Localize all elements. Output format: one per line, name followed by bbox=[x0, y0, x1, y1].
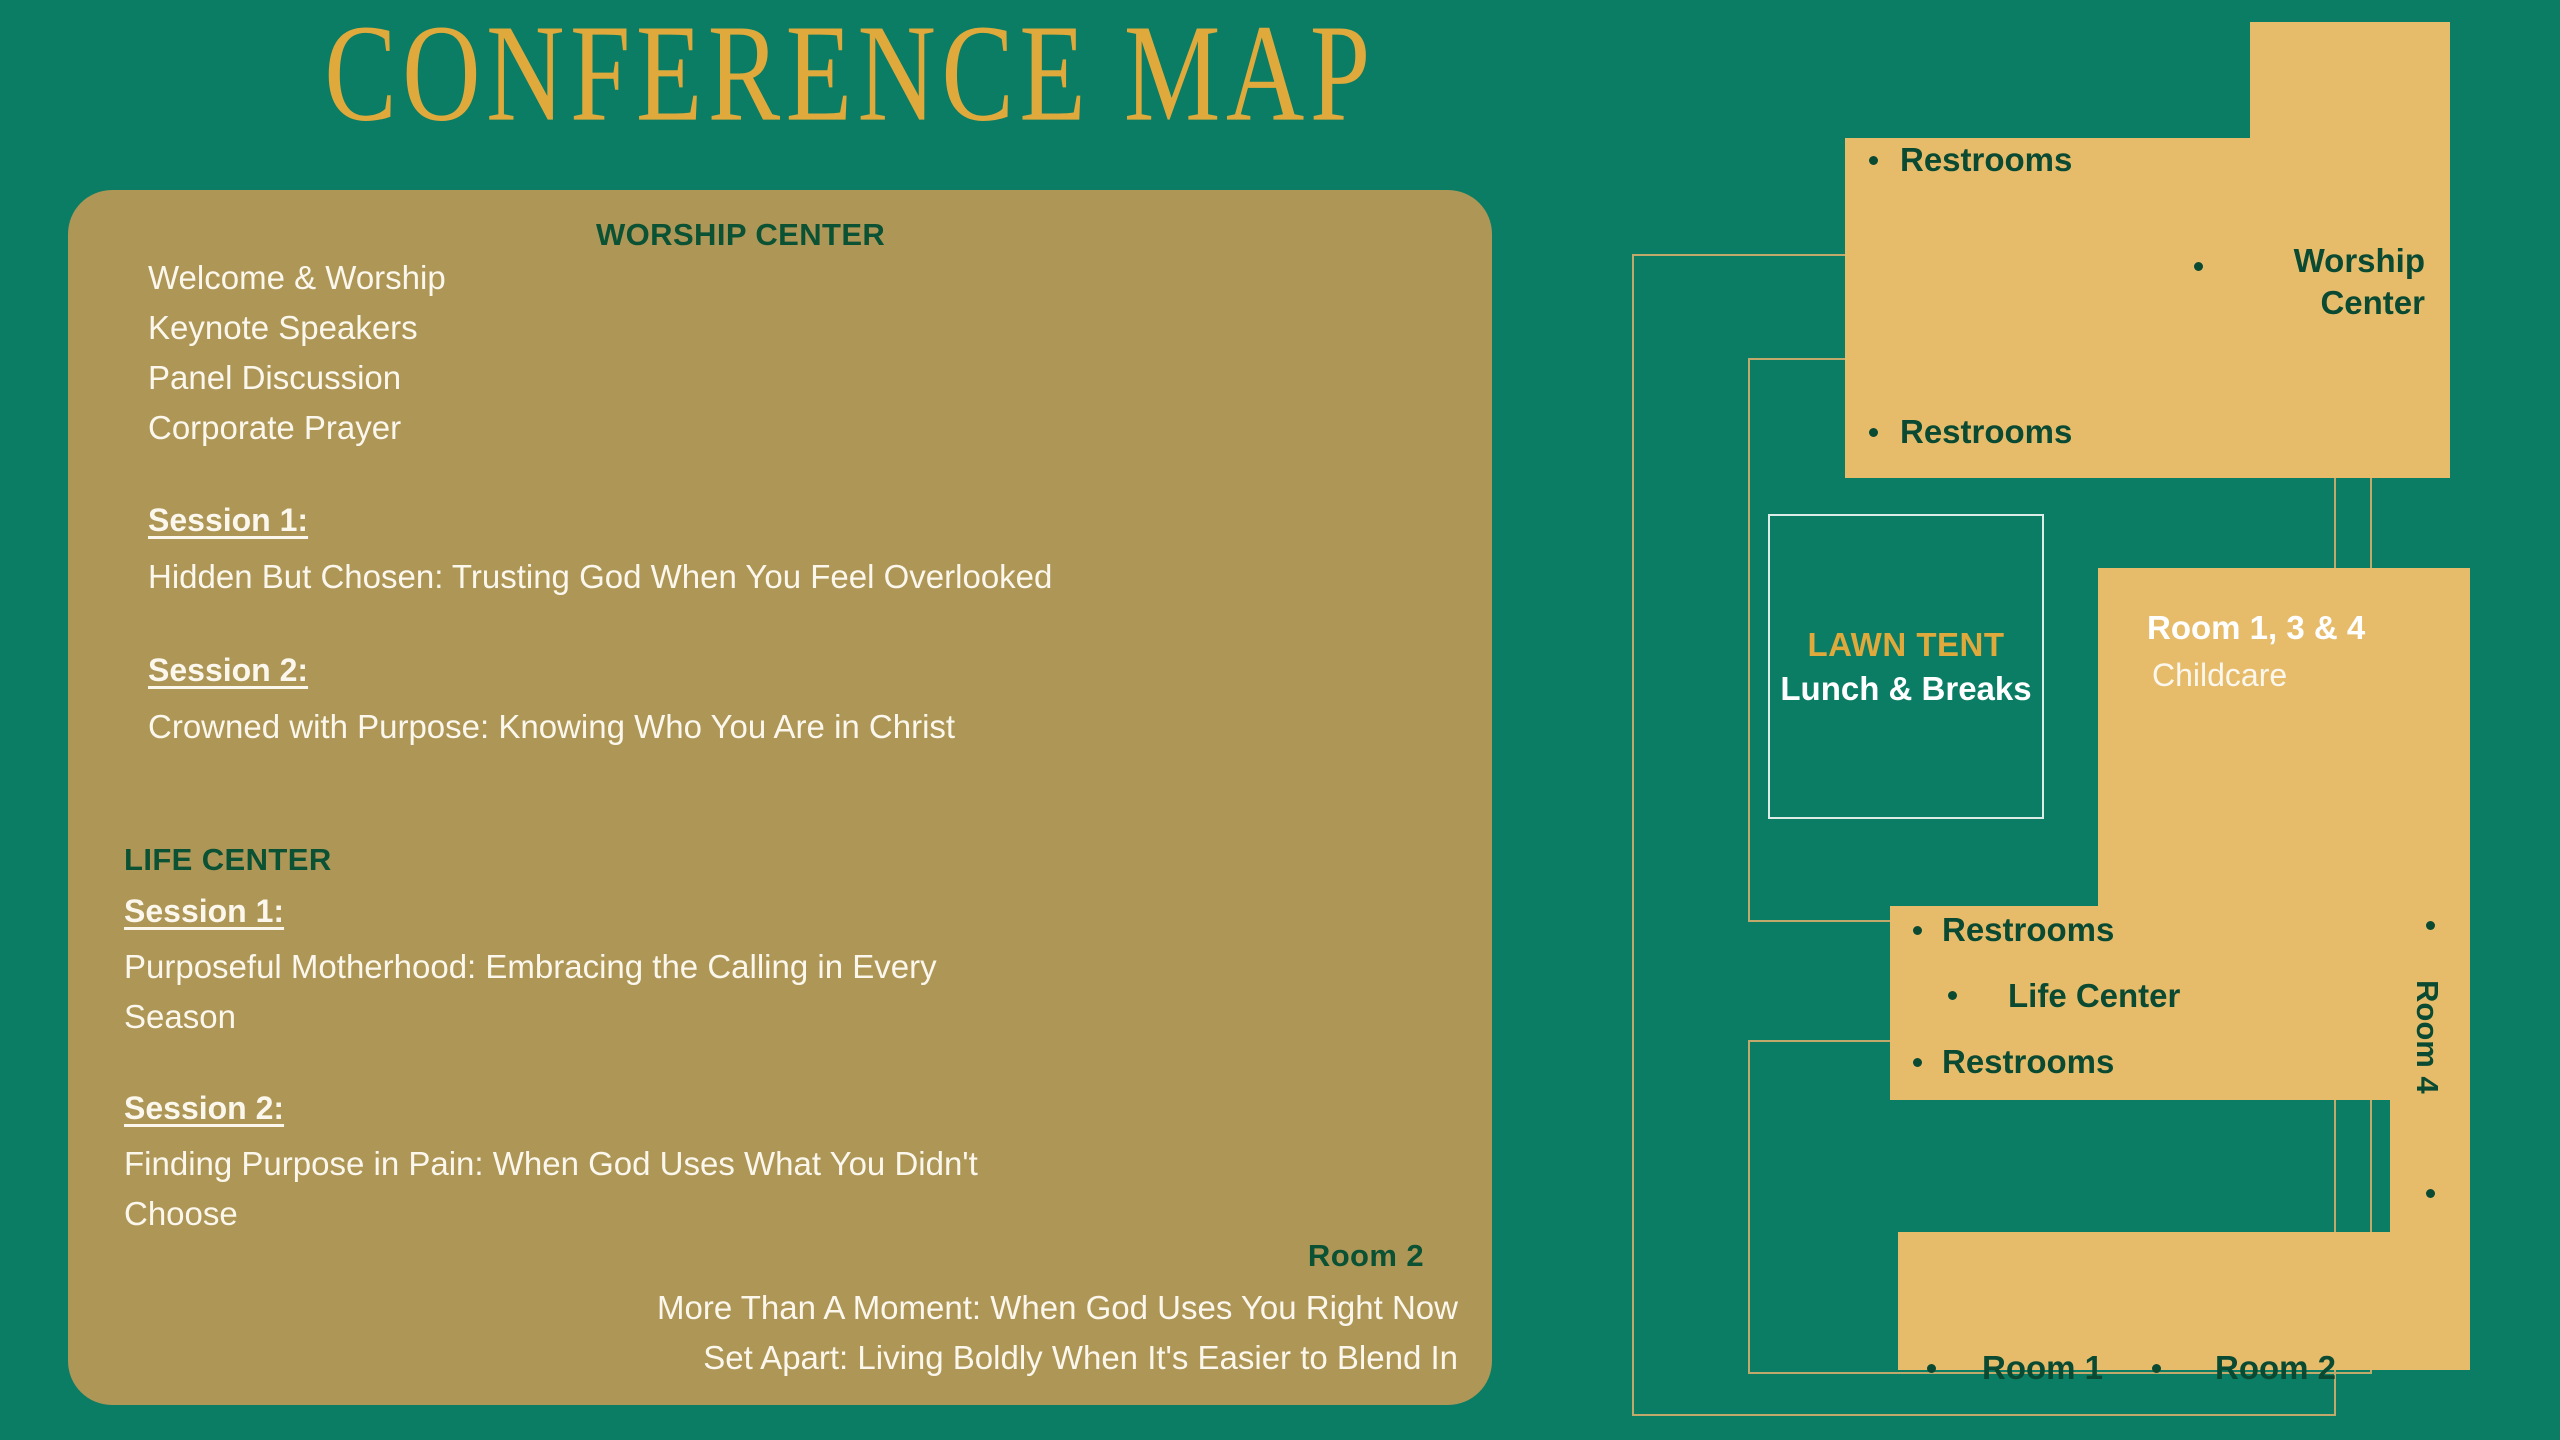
restrooms-life-bottom-bullet-icon bbox=[1913, 1058, 1922, 1067]
map-label-worship-center: Worship Center bbox=[2195, 240, 2425, 324]
map-label-restrooms-life-top: Restrooms bbox=[1942, 909, 2114, 951]
map-label-room-4: Room 4 bbox=[2409, 980, 2445, 1094]
life-center-bullet-icon bbox=[1948, 991, 1957, 1000]
map-label-life-center: Life Center bbox=[2008, 975, 2180, 1017]
map-label-restrooms-life-bottom: Restrooms bbox=[1942, 1041, 2114, 1083]
restrooms-life-top-bullet-icon bbox=[1913, 926, 1922, 935]
childcare-subtitle: Childcare bbox=[2152, 657, 2287, 694]
lawn-tent-block: LAWN TENT Lunch & Breaks bbox=[1768, 514, 2044, 819]
room-3-bullet-icon bbox=[2426, 1189, 2435, 1198]
lawn-tent-subtitle: Lunch & Breaks bbox=[1780, 670, 2031, 708]
room-1-bullet-icon bbox=[1927, 1364, 1936, 1373]
restrooms-bottom-bullet-icon bbox=[1869, 428, 1878, 437]
map-label-restrooms-worship-bottom: Restrooms bbox=[1900, 411, 2072, 453]
map-label-room-2: Room 2 bbox=[2215, 1347, 2336, 1389]
worship-building-upper-wing bbox=[2250, 22, 2450, 142]
map-label-room-1: Room 1 bbox=[1982, 1347, 2103, 1389]
room-4-bullet-icon bbox=[2426, 921, 2435, 930]
floor-map: Restrooms Worship Center Restrooms LAWN … bbox=[0, 0, 2560, 1440]
room-2-bullet-icon bbox=[2152, 1364, 2161, 1373]
childcare-title: Room 1, 3 & 4 bbox=[2147, 609, 2365, 647]
restrooms-top-bullet-icon bbox=[1869, 156, 1878, 165]
conference-map-poster: CONFERENCE MAP WORSHIP CENTER Welcome & … bbox=[0, 0, 2560, 1440]
map-label-restrooms-worship-top: Restrooms bbox=[1900, 139, 2072, 181]
lawn-tent-title: LAWN TENT bbox=[1808, 626, 2005, 664]
